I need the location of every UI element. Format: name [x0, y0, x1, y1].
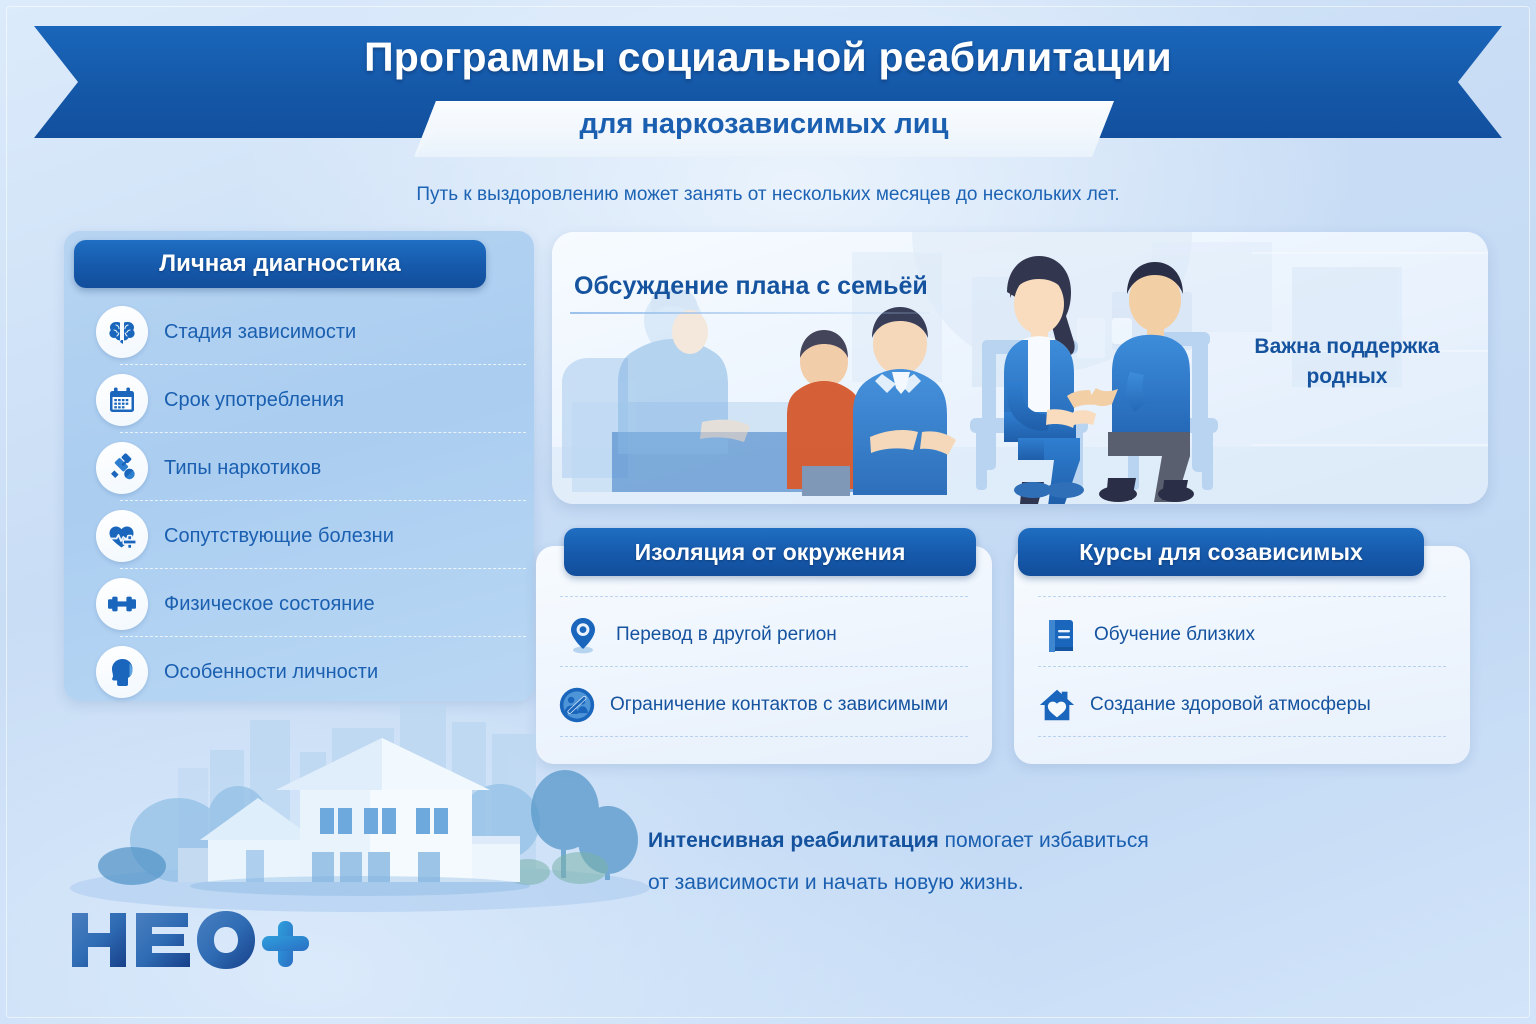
card-row-label: Перевод в другой регион — [616, 624, 837, 646]
page-subtitle: для наркозависимых лиц — [414, 108, 1114, 141]
sidebar-item-label: Типы наркотиков — [164, 457, 321, 480]
house-city-illustration — [60, 690, 660, 920]
card-row-label: Обучение близких — [1094, 624, 1255, 646]
hero-title: Обсуждение плана с семьёй — [574, 272, 928, 301]
sidebar-item-drug-types[interactable]: Типы наркотиков — [96, 436, 516, 500]
calendar-icon — [96, 374, 148, 426]
row-separator — [120, 568, 526, 569]
location-pin-icon — [564, 616, 602, 654]
sidebar-item-physical[interactable]: Физическое состояние — [96, 572, 516, 636]
home-heart-icon — [1038, 685, 1076, 725]
dumbbell-icon — [96, 578, 148, 630]
codependent-courses-card-title: Курсы для созависимых — [1018, 528, 1424, 576]
infographic-page: Программы социальной реабилитации для на… — [0, 0, 1536, 1024]
sidebar-item-label: Сопутствующие болезни — [164, 525, 394, 548]
brain-icon — [96, 306, 148, 358]
footer-lead: Интенсивная реабилитация — [648, 829, 939, 852]
card-row-relocation[interactable]: Перевод в другой регион — [564, 604, 837, 666]
heart-plus-icon — [96, 510, 148, 562]
sidebar-item-label: Физическое состояние — [164, 593, 375, 616]
brand-logo: НЕО+ — [66, 905, 316, 975]
sidebar-item-stage[interactable]: Стадия зависимости — [96, 300, 516, 364]
hero-title-underline — [570, 312, 930, 314]
sidebar-item-duration[interactable]: Срок употребления — [96, 368, 516, 432]
card-row-label: Создание здоровой атмосферы — [1090, 694, 1371, 716]
diagnostics-panel-title: Личная диагностика — [74, 240, 486, 288]
card-row-education[interactable]: Обучение близких — [1042, 604, 1255, 666]
syringe-pills-icon — [96, 442, 148, 494]
codependent-courses-card: Обучение близких Создание здоровой атмос… — [1014, 546, 1470, 764]
isolation-card-title: Изоляция от окружения — [564, 528, 976, 576]
row-separator — [120, 636, 526, 637]
card-row-label: Ограничение контактов с зависимыми — [610, 694, 948, 716]
book-icon — [1042, 616, 1080, 654]
hero-caption: Важна поддержка родных — [1232, 332, 1462, 393]
row-separator — [120, 500, 526, 501]
footer-rest: помогает избавиться — [939, 829, 1149, 852]
footer-line2: от зависимости и начать новую жизнь. — [648, 862, 1348, 904]
sidebar-item-comorbidities[interactable]: Сопутствующие болезни — [96, 504, 516, 568]
page-title: Программы социальной реабилитации — [0, 34, 1536, 81]
sidebar-item-label: Стадия зависимости — [164, 321, 356, 344]
row-separator — [120, 364, 526, 365]
sidebar-item-label: Особенности личности — [164, 661, 378, 684]
sidebar-item-label: Срок употребления — [164, 389, 344, 412]
card-row-healthy-atmosphere[interactable]: Создание здоровой атмосферы — [1038, 674, 1371, 736]
footer-statement: Интенсивная реабилитация помогает избави… — [648, 820, 1348, 904]
row-separator — [120, 432, 526, 433]
intro-text: Путь к выздоровлению может занять от нес… — [0, 184, 1536, 206]
